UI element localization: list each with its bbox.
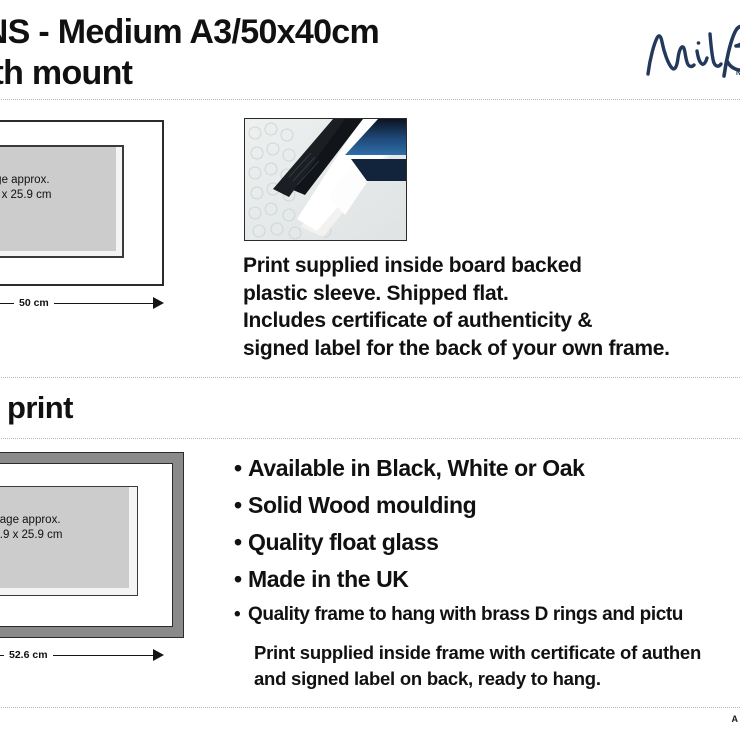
mount-description: Print supplied inside board backed plast… xyxy=(243,252,740,362)
list-item-label: Quality float glass xyxy=(248,529,439,555)
list-item: •Solid Wood moulding xyxy=(234,487,740,524)
list-item: •Quality frame to hang with brass D ring… xyxy=(234,598,740,632)
bullet-icon: • xyxy=(234,561,248,598)
frame-width-dimension: 52.6 cm xyxy=(0,646,164,664)
print-photo xyxy=(244,118,407,241)
mount-image-label-line-2: 38.9 x 25.9 cm xyxy=(0,188,51,203)
signature-icon xyxy=(640,18,740,92)
mount-description-line-4: signed label for the back of your own fr… xyxy=(243,335,740,363)
section-title-framed-print: ed print xyxy=(0,388,73,428)
frame-mount-area: Image approx. 38.9 x 25.9 cm xyxy=(0,463,173,627)
signature-subtext: N xyxy=(736,70,740,77)
mount-image-label: Image approx. 38.9 x 25.9 cm xyxy=(0,173,51,203)
mount-description-line-2: plastic sleeve. Shipped flat. xyxy=(243,280,740,308)
signature-logo: N xyxy=(640,18,740,92)
divider-mid-lower xyxy=(0,438,740,439)
list-item: •Available in Black, White or Oak xyxy=(234,450,740,487)
divider-bottom xyxy=(0,707,740,708)
list-item: •Quality float glass xyxy=(234,524,740,561)
list-item-label: Solid Wood moulding xyxy=(248,492,476,518)
arrow-head-icon xyxy=(153,649,164,661)
mount-diagram: Image approx. 38.9 x 25.9 cm xyxy=(0,120,164,286)
frame-image-label-line-2: 38.9 x 25.9 cm xyxy=(0,528,62,543)
print-with-mount-photo-icon xyxy=(245,119,407,241)
frame-image-label: Image approx. 38.9 x 25.9 cm xyxy=(0,513,62,543)
page-title-line-1: ONS - Medium A3/50x40cm xyxy=(0,12,518,53)
frame-footnote: Print supplied inside frame with certifi… xyxy=(254,640,740,692)
list-item-label: Made in the UK xyxy=(248,566,409,592)
frame-footnote-line-2: and signed label on back, ready to hang. xyxy=(254,666,740,692)
bullet-icon: • xyxy=(234,450,248,487)
framed-print-diagram: Image approx. 38.9 x 25.9 cm xyxy=(0,452,184,638)
page-title-line-2: with mount xyxy=(0,53,518,94)
mount-dimension-label: 50 cm xyxy=(14,294,54,312)
frame-dimension-label: 52.6 cm xyxy=(4,646,53,664)
corner-mark: A xyxy=(732,714,739,724)
list-item-label: Quality frame to hang with brass D rings… xyxy=(248,604,683,625)
frame-window: Image approx. 38.9 x 25.9 cm xyxy=(0,486,138,596)
bullet-icon: • xyxy=(234,598,248,632)
frame-feature-list: •Available in Black, White or Oak •Solid… xyxy=(234,450,740,632)
page-root: ONS - Medium A3/50x40cm with mount N Ima… xyxy=(0,0,740,736)
mount-image-label-line-1: Image approx. xyxy=(0,173,51,188)
bullet-icon: • xyxy=(234,524,248,561)
mount-description-line-3: Includes certificate of authenticity & xyxy=(243,307,740,335)
frame-footnote-line-1: Print supplied inside frame with certifi… xyxy=(254,640,740,666)
divider-mid-upper xyxy=(0,377,740,378)
list-item-label: Available in Black, White or Oak xyxy=(248,455,585,481)
page-title: ONS - Medium A3/50x40cm with mount xyxy=(0,12,518,94)
list-item: •Made in the UK xyxy=(234,561,740,598)
frame-image-label-line-1: Image approx. xyxy=(0,513,62,528)
mount-description-line-1: Print supplied inside board backed xyxy=(243,252,740,280)
bullet-icon: • xyxy=(234,487,248,524)
arrow-head-icon xyxy=(153,297,164,309)
mount-width-dimension: 50 cm xyxy=(0,294,164,312)
divider-top xyxy=(0,99,740,100)
mount-window: Image approx. 38.9 x 25.9 cm xyxy=(0,145,124,258)
